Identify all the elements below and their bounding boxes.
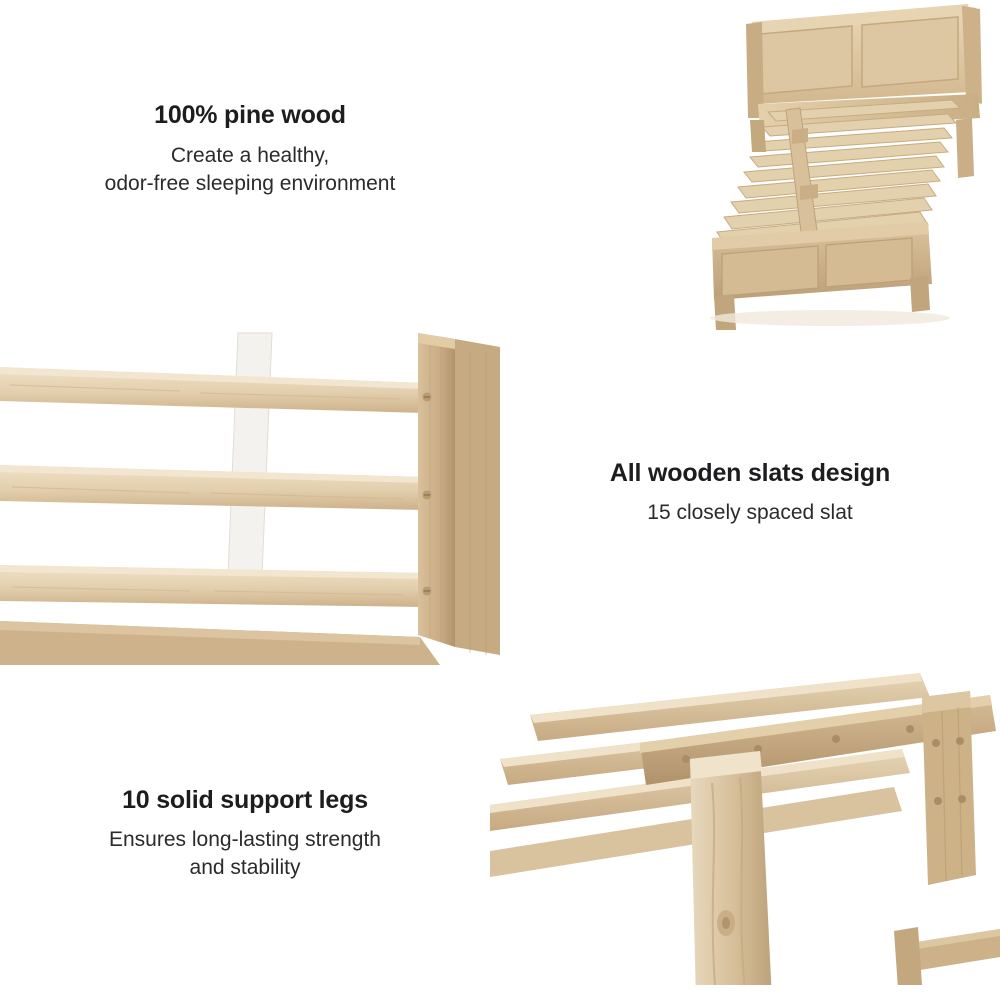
- feature-block-support-legs: 10 solid support legs Ensures long-lasti…: [10, 785, 480, 881]
- feature-title-pine-wood: 100% pine wood: [0, 100, 500, 130]
- infographic-page: 100% pine wood Create a healthy, odor-fr…: [0, 0, 1000, 1000]
- feature-subtitle-support-legs: Ensures long-lasting strength and stabil…: [10, 826, 480, 881]
- feature-subtitle-wooden-slats: 15 closely spaced slat: [520, 499, 980, 527]
- feature-title-support-legs: 10 solid support legs: [10, 785, 480, 815]
- slats-closeup-photo: [0, 325, 500, 665]
- support-legs-closeup-photo: [490, 655, 1000, 1000]
- feature-title-wooden-slats: All wooden slats design: [520, 458, 980, 488]
- feature-block-wooden-slats: All wooden slats design 15 closely space…: [520, 458, 980, 527]
- feature-subtitle-pine-wood: Create a healthy, odor-free sleeping env…: [0, 142, 500, 197]
- feature-block-pine-wood: 100% pine wood Create a healthy, odor-fr…: [0, 100, 500, 197]
- full-bed-frame-photo: [500, 0, 1000, 330]
